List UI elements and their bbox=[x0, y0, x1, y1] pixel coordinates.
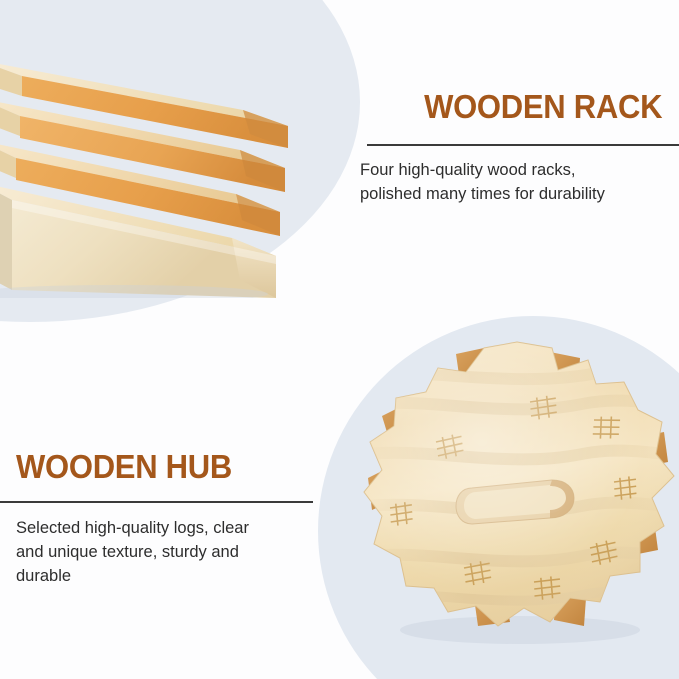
wooden-hub-description-line-1: Selected high-quality logs, clear bbox=[16, 516, 308, 540]
wooden-rack-photo bbox=[0, 22, 360, 298]
wooden-hub-description-line-2: and unique texture, sturdy and bbox=[16, 540, 308, 564]
wooden-rack-divider bbox=[367, 144, 679, 146]
wooden-rack-description: Four high-quality wood racks, polished m… bbox=[360, 158, 672, 206]
wooden-hub-divider bbox=[0, 501, 313, 503]
infographic-canvas: WOODEN RACK Four high-quality wood racks… bbox=[0, 0, 679, 679]
wooden-rack-heading: WOODEN RACK bbox=[371, 88, 666, 126]
wooden-hub-description: Selected high-quality logs, clear and un… bbox=[16, 516, 308, 588]
wooden-rack-description-line-2: polished many times for durability bbox=[360, 182, 672, 206]
wooden-hub-text-block: WOODEN HUB bbox=[16, 448, 316, 486]
wooden-rack-description-line-1: Four high-quality wood racks, bbox=[360, 158, 672, 182]
wooden-rack-text-block: WOODEN RACK bbox=[352, 88, 666, 126]
hub-body bbox=[352, 342, 679, 626]
wooden-hub-heading: WOODEN HUB bbox=[16, 448, 298, 486]
wooden-hub-description-line-3: durable bbox=[16, 564, 308, 588]
wooden-hub-photo bbox=[352, 330, 679, 650]
